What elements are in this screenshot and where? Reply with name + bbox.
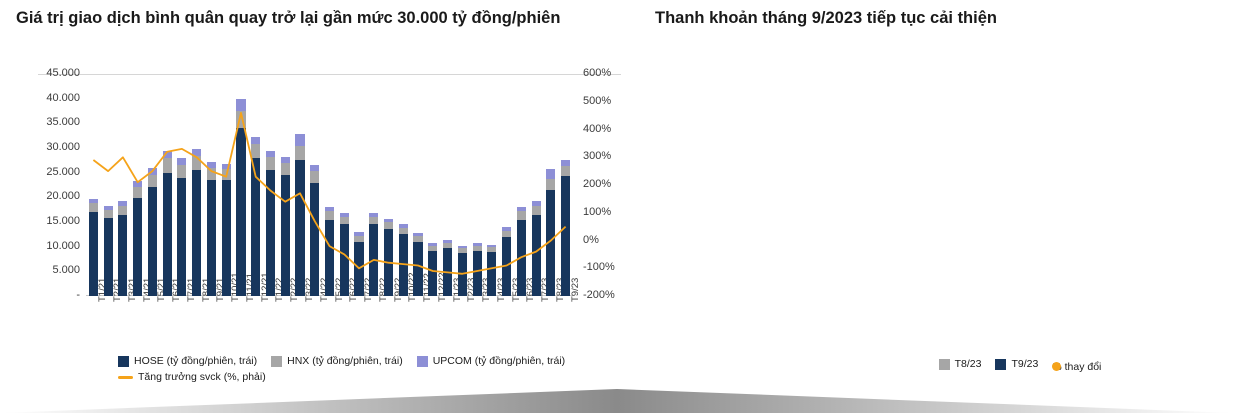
left-legend-item: UPCOM (tỷ đồng/phiên, trái)	[417, 355, 565, 367]
left-legend-item: HOSE (tỷ đồng/phiên, trái)	[118, 355, 257, 367]
bottom-decoration	[0, 389, 1234, 413]
left-legend-label-0: HOSE (tỷ đồng/phiên, trái)	[134, 355, 257, 367]
right-legend-item: T8/23	[939, 358, 982, 370]
right-chart-panel: Thanh khoản tháng 9/2023 tiếp tục cải th…	[617, 0, 1234, 413]
left-ytick-4: 20.000	[46, 190, 80, 202]
left-legend-item: HNX (tỷ đồng/phiên, trái)	[271, 355, 403, 367]
left-y2tick-2: 0%	[583, 234, 599, 246]
left-chart-title: Giá trị giao dịch bình quân quay trở lại…	[16, 8, 576, 30]
left-ytick-8: 40.000	[46, 92, 80, 104]
right-legend-item: % thay đổi	[1052, 361, 1101, 373]
left-legend-swatch-1	[271, 356, 282, 367]
left-ytick-1: 5.000	[52, 264, 80, 276]
left-legend-item: Tăng trưởng svck (%, phải)	[118, 371, 266, 383]
left-y2tick-5: 300%	[583, 150, 611, 162]
left-chart-panel: Giá trị giao dịch bình quân quay trở lại…	[0, 0, 617, 413]
right-chart-legend: T8/23T9/23% thay đổi	[817, 358, 1234, 373]
right-legend-label-1: T9/23	[1011, 358, 1038, 370]
left-y2tick-3: 100%	[583, 206, 611, 218]
left-legend-swatch-0	[118, 356, 129, 367]
left-legend-label-1: HNX (tỷ đồng/phiên, trái)	[287, 355, 403, 367]
left-y2tick-6: 400%	[583, 123, 611, 135]
left-legend-swatch-3	[118, 376, 133, 379]
right-legend-label-0: T8/23	[955, 358, 982, 370]
right-legend-item: T9/23	[995, 358, 1038, 370]
left-chart-plot: -5.00010.00015.00020.00025.00030.00035.0…	[86, 74, 573, 296]
left-ytick-2: 10.000	[46, 240, 80, 252]
left-growth-line	[86, 74, 573, 296]
right-legend-swatch-1	[995, 359, 1006, 370]
left-y2tick-0: -200%	[583, 289, 615, 301]
left-ytick-6: 30.000	[46, 141, 80, 153]
right-chart-title: Thanh khoản tháng 9/2023 tiếp tục cải th…	[655, 8, 1215, 30]
left-y2tick-1: -100%	[583, 261, 615, 273]
left-ytick-7: 35.000	[46, 116, 80, 128]
decor-triangle-icon	[0, 389, 1234, 413]
left-legend-label-2: UPCOM (tỷ đồng/phiên, trái)	[433, 355, 565, 367]
left-y2tick-7: 500%	[583, 95, 611, 107]
left-chart-legend: HOSE (tỷ đồng/phiên, trái)HNX (tỷ đồng/p…	[118, 355, 588, 383]
left-legend-swatch-2	[417, 356, 428, 367]
left-y2tick-8: 600%	[583, 67, 611, 79]
left-ytick-0: -	[76, 289, 80, 301]
left-y2tick-4: 200%	[583, 178, 611, 190]
left-legend-label-3: Tăng trưởng svck (%, phải)	[138, 371, 266, 383]
right-legend-swatch-0	[939, 359, 950, 370]
left-ytick-3: 15.000	[46, 215, 80, 227]
left-ytick-5: 25.000	[46, 166, 80, 178]
left-ytick-9: 45.000	[46, 67, 80, 79]
